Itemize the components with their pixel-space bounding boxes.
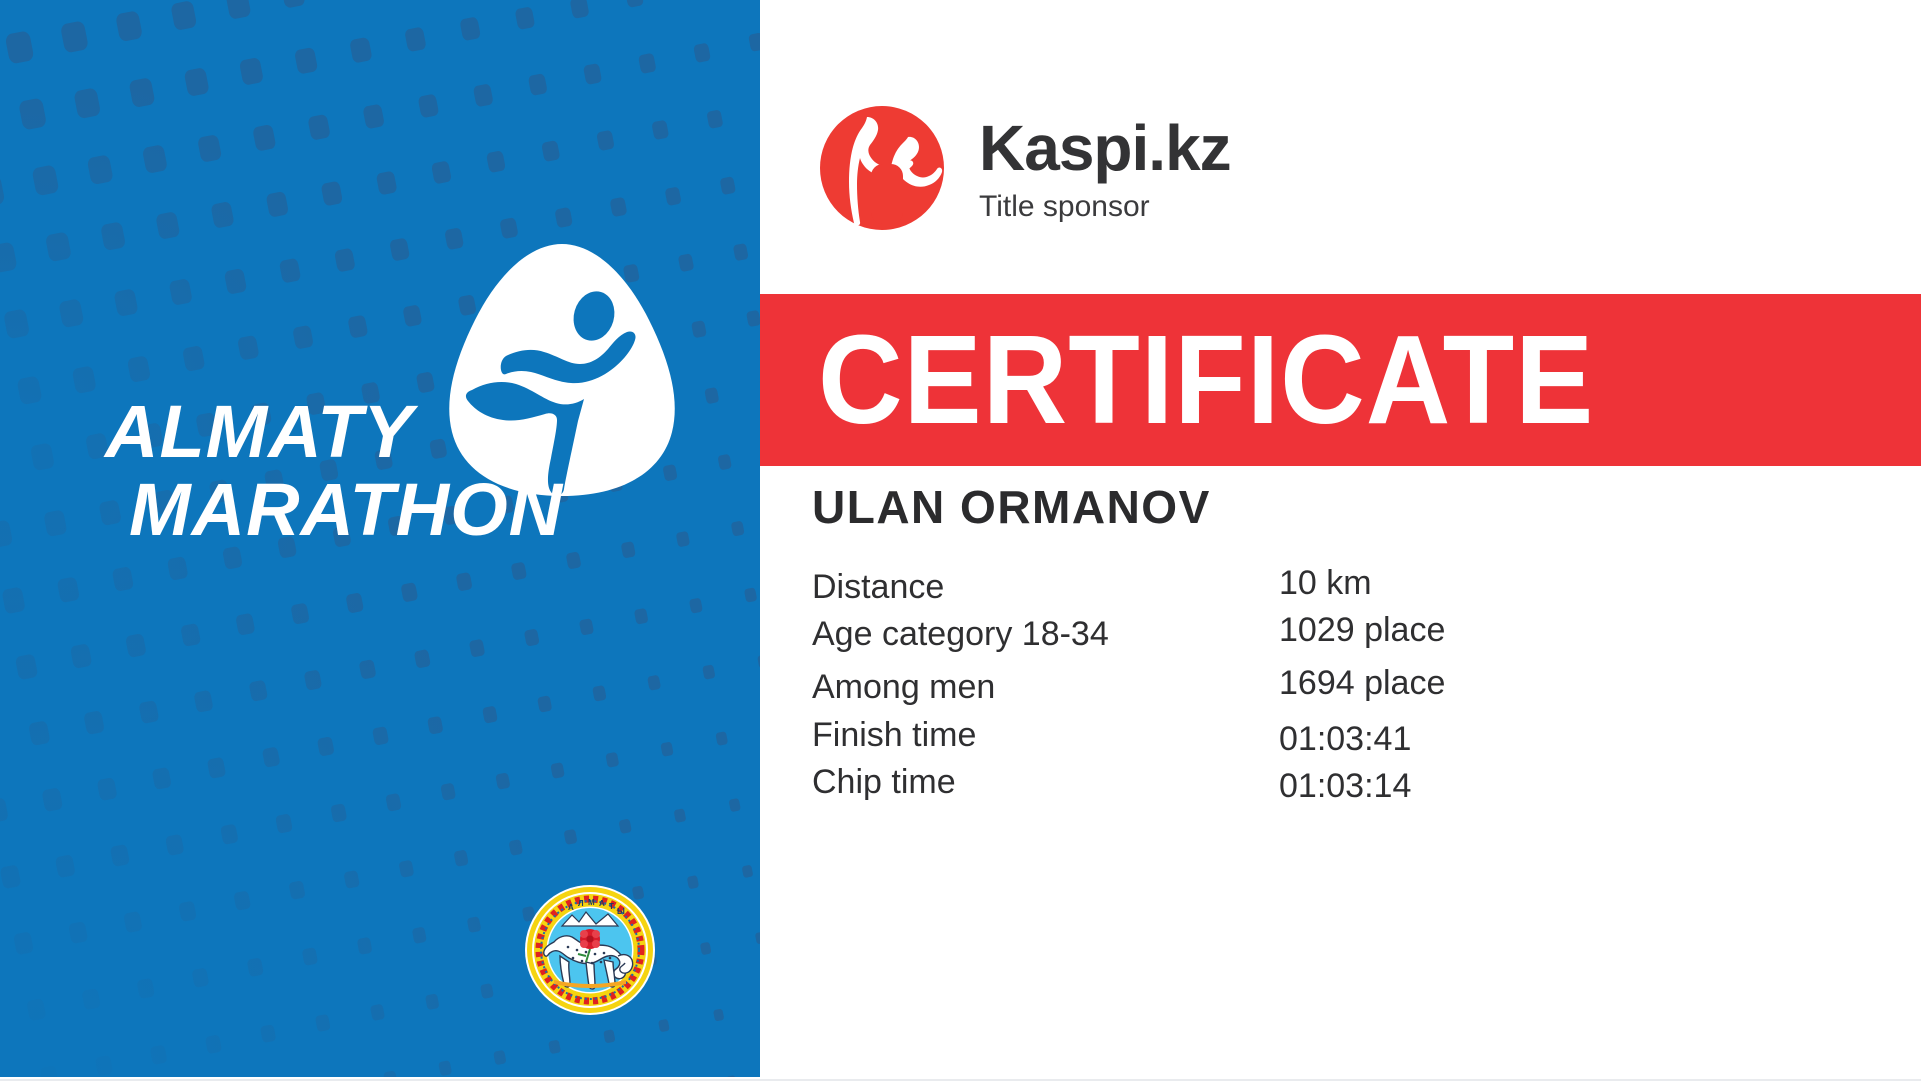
- branding-panel: ALMATY MARATHON АЛМ АТЫ: [0, 0, 760, 1077]
- result-value: 01:03:14: [1279, 769, 1411, 803]
- almaty-coat-of-arms-icon: АЛМ АТЫ: [524, 884, 656, 1016]
- svg-text:Ы: Ы: [617, 907, 625, 916]
- athlete-name: ULAN ORMANOV: [812, 484, 1211, 530]
- result-label: Age category 18-34: [812, 617, 1109, 651]
- almaty-marathon-logo: ALMATY MARATHON: [100, 270, 700, 600]
- result-label: Chip time: [812, 765, 956, 799]
- title-sponsor-block: Kaspi.kz Title sponsor: [812, 104, 1231, 243]
- result-row: Age category 18-34 1029 place: [812, 607, 1872, 654]
- result-value: 1694 place: [1279, 666, 1445, 700]
- certificate-content-panel: Kaspi.kz Title sponsor CERTIFICATE ULAN …: [760, 0, 1921, 1081]
- result-row: Distance 10 km: [812, 566, 1872, 607]
- certificate-banner: CERTIFICATE: [760, 294, 1921, 466]
- svg-text:Л: Л: [578, 899, 584, 908]
- logo-line-almaty: ALMATY: [105, 398, 585, 466]
- svg-text:М: М: [588, 898, 595, 907]
- result-row: Finish time 01:03:41: [812, 701, 1872, 742]
- result-value: 1029 place: [1279, 613, 1445, 647]
- kaspi-logo-icon: [812, 98, 957, 243]
- results-list: Distance 10 km Age category 18-34 1029 p…: [812, 566, 1872, 787]
- svg-text:Т: Т: [609, 902, 614, 911]
- almaty-marathon-wordmark: ALMATY MARATHON: [105, 398, 585, 544]
- result-label: Distance: [812, 570, 944, 604]
- result-row: Chip time 01:03:14: [812, 742, 1872, 787]
- certificate-page: ALMATY MARATHON АЛМ АТЫ: [0, 0, 1921, 1081]
- sponsor-role: Title sponsor: [979, 192, 1231, 222]
- certificate-title: CERTIFICATE: [818, 317, 1594, 443]
- svg-text:А: А: [599, 899, 605, 908]
- logo-line-marathon: MARATHON: [129, 476, 585, 544]
- result-label: Among men: [812, 670, 995, 704]
- sponsor-name: Kaspi.kz: [979, 116, 1231, 180]
- result-row: Among men 1694 place: [812, 654, 1872, 701]
- result-value: 10 km: [1279, 566, 1372, 600]
- svg-text:А: А: [568, 903, 574, 912]
- sponsor-text-block: Kaspi.kz Title sponsor: [979, 104, 1231, 222]
